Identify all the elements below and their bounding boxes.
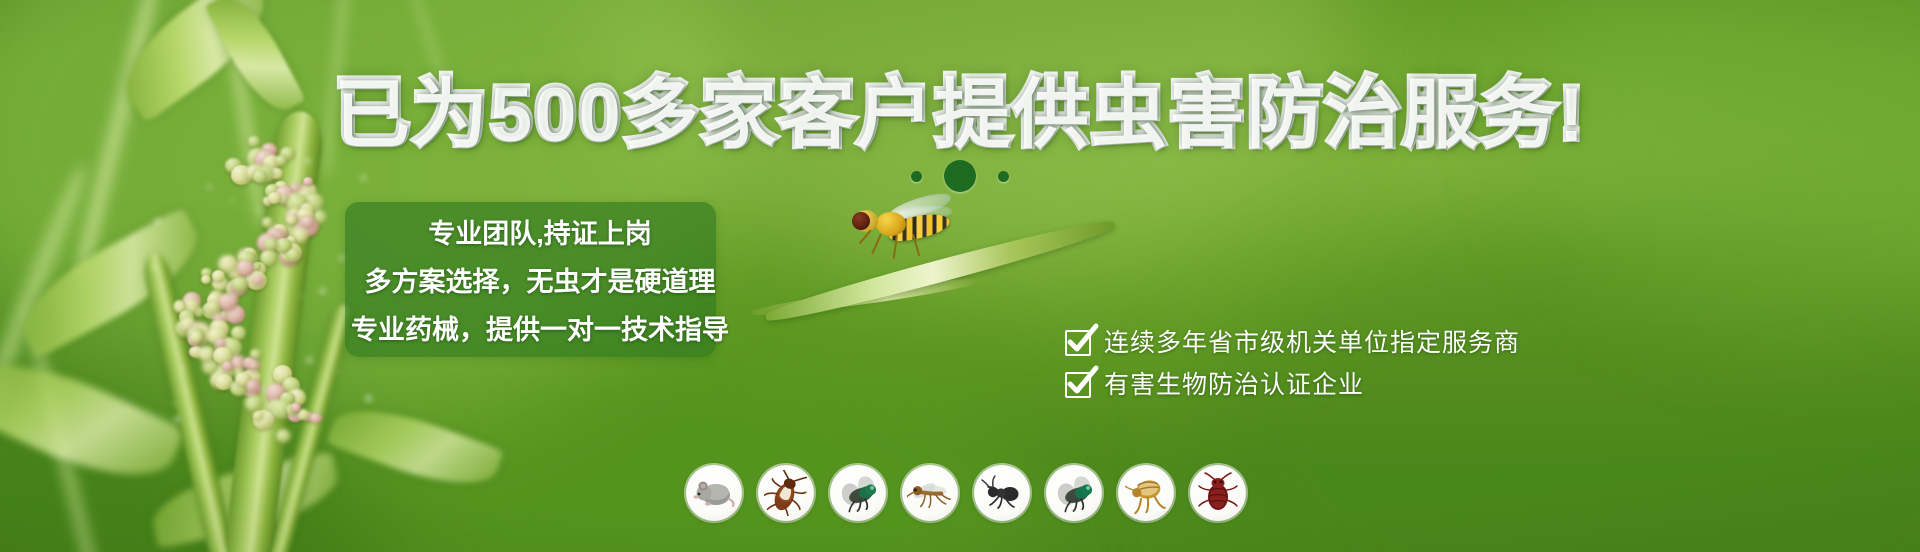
banner-headline: 已为500多家客户提供虫害防治服务! (0, 76, 1920, 152)
decor-dot-large-center (944, 160, 976, 192)
dew-speck (268, 411, 275, 418)
ant-icon (974, 465, 1030, 521)
pest-type-icon-row (686, 465, 1246, 521)
dew-speck (295, 389, 300, 394)
dew-speck (156, 323, 159, 326)
dew-speck (301, 295, 304, 298)
flower-bud (201, 275, 211, 284)
checkbox-checked-icon (1065, 330, 1091, 356)
checklist-item-label: 有害生物防治认证企业 (1104, 373, 1364, 398)
flower-bud (310, 413, 321, 423)
flower-bud (253, 411, 262, 420)
hoverfly-on-stem-image (760, 190, 1190, 330)
flower-bud (301, 216, 314, 228)
dew-speck (231, 199, 235, 203)
mouse-icon (686, 465, 742, 521)
flower-bud (262, 217, 273, 227)
dew-speck (154, 218, 160, 224)
blowfly-icon (1046, 465, 1102, 521)
flower-bud (276, 429, 291, 443)
dew-speck (365, 395, 371, 401)
promo-line-3: 专业药械，提供一对一技术指导 (351, 308, 729, 347)
fly-icon (830, 465, 886, 521)
checklist-item: 连续多年省市级机关单位指定服务商 (1065, 330, 1520, 356)
flower-bud (207, 301, 219, 312)
flower-bud (246, 380, 259, 392)
dew-speck (260, 386, 265, 391)
checklist-item-label: 连续多年省市级机关单位指定服务商 (1104, 331, 1520, 356)
hoverfly-leg (871, 234, 882, 255)
dew-speck (152, 265, 157, 270)
flea-icon (1118, 465, 1174, 521)
flower-bud (287, 249, 300, 261)
dew-speck (336, 370, 339, 373)
dew-speck (298, 422, 300, 424)
checklist-item: 有害生物防治认证企业 (1065, 372, 1520, 398)
dew-speck (319, 288, 326, 295)
flower-bud (237, 260, 254, 276)
credentials-checklist: 连续多年省市级机关单位指定服务商 有害生物防治认证企业 (1065, 330, 1520, 398)
hoverfly-thorax (876, 212, 906, 236)
pest-control-hero-banner: 已为500多家客户提供虫害防治服务! 专业团队,持证上岗 多方案选择，无虫才是硬… (0, 0, 1920, 552)
flower-bud (291, 403, 300, 412)
flower-bud (286, 215, 297, 225)
dew-speck (256, 209, 259, 212)
decor-dot-small-right (998, 171, 1009, 182)
decorative-dot-row (0, 160, 1920, 192)
promo-line-2: 多方案选择，无虫才是硬道理 (365, 260, 716, 299)
hoverfly-icon (850, 196, 960, 258)
dew-speck (209, 347, 212, 350)
decor-dot-small-left (911, 171, 922, 182)
dew-speck (174, 416, 180, 422)
checkbox-checked-icon (1065, 372, 1091, 398)
hoverfly-eye (852, 212, 870, 230)
promo-line-1: 专业团队,持证上岗 (428, 212, 652, 251)
banner-headline-text: 已为500多家客户提供虫害防治服务! (334, 71, 1586, 156)
dew-speck (306, 357, 313, 364)
cockroach-icon (758, 465, 814, 521)
flower-bud (264, 238, 278, 251)
dew-speck (173, 402, 176, 405)
dew-speck (267, 436, 269, 438)
flower-bud (248, 360, 260, 371)
dew-speck (230, 296, 233, 299)
dew-speck (182, 366, 186, 370)
promo-text-lines: 专业团队,持证上岗 多方案选择，无虫才是硬道理 专业药械，提供一对一技术指导 (330, 202, 750, 357)
mosquito-icon (902, 465, 958, 521)
bedbug-icon (1190, 465, 1246, 521)
